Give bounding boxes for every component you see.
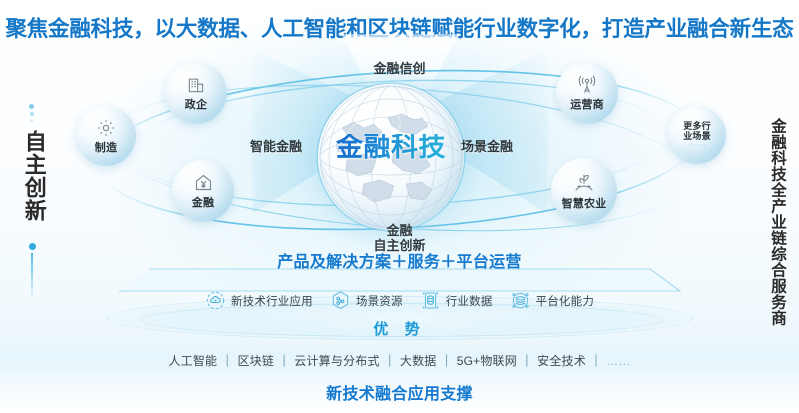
layers-stack-icon: [510, 290, 531, 311]
ellipsis-dots: ······: [687, 142, 707, 149]
industry-bubble-label-line2: 业场景: [683, 131, 711, 141]
industry-bubble-zhengqi[interactable]: 政企: [165, 62, 227, 124]
industry-bubble-label: 制造: [95, 139, 117, 155]
technology-separator: ｜: [380, 354, 400, 368]
support-tagline: 新技术融合应用支撑: [0, 380, 799, 404]
technology-separator: ｜: [217, 354, 237, 368]
core-globe: 金融科技: [318, 84, 464, 230]
left-vertical-caption: 自主创新: [22, 130, 46, 222]
industry-bubble-yunyingshang[interactable]: 运营商: [556, 62, 618, 124]
left-caption-dots-top: [29, 104, 34, 122]
technology-item: ……: [606, 354, 630, 368]
advantage-item-scenario-resources[interactable]: 场景资源: [330, 290, 403, 311]
industry-bubble-zhihuinongye[interactable]: 智慧农业: [551, 158, 617, 224]
industry-bubble-label-line1: 更多行: [683, 121, 711, 131]
globe-label: 金融科技: [318, 134, 464, 161]
technology-item: 云计算与分布式: [294, 354, 379, 368]
industry-bubble-label: 政企: [185, 96, 207, 112]
gear-icon: [96, 118, 116, 138]
advantage-label: 新技术行业应用: [231, 293, 313, 309]
advantage-item-industry-data[interactable]: 行业数据: [420, 290, 493, 311]
core-label-top: 金融信创: [0, 58, 799, 77]
building-icon: [186, 75, 206, 95]
smart-farm-icon: [573, 172, 595, 194]
technology-item: 大数据: [400, 354, 437, 368]
core-label-right: 场景金融: [461, 136, 513, 155]
advantage-label: 场景资源: [356, 293, 403, 309]
infographic-canvas: 聚焦金融科技，以大数据、人工智能和区块链赋能行业数字化，打造产业融合新生态 自主…: [0, 0, 799, 413]
industry-bubble-more-scenarios[interactable]: 更多行 业场景 ······: [668, 106, 726, 164]
antenna-signal-icon: [577, 75, 597, 95]
technology-separator: ｜: [437, 354, 457, 368]
industry-bubble-jinrong[interactable]: 金融: [172, 160, 234, 222]
technology-separator: ｜: [517, 354, 537, 368]
advantage-item-platform-capability[interactable]: 平台化能力: [510, 290, 595, 311]
technology-list: 人工智能｜区块链｜云计算与分布式｜大数据｜5G+物联网｜安全技术｜……: [0, 352, 799, 369]
advantage-item-new-tech[interactable]: 新技术行业应用: [205, 290, 313, 311]
cloud-circle-icon: [205, 290, 226, 311]
industry-bubble-zhizao[interactable]: 制造: [76, 106, 136, 166]
platform-trapezoid: [118, 268, 681, 292]
bank-yuan-icon: [193, 172, 214, 193]
industry-bubble-label: 智慧农业: [562, 195, 607, 211]
technology-item: 区块链: [237, 354, 274, 368]
core-label-left: 智能金融: [250, 136, 302, 155]
industry-bubble-label: 运营商: [570, 96, 604, 112]
technology-separator: ｜: [586, 354, 606, 368]
technology-item: 5G+物联网: [457, 354, 517, 368]
technology-item: 安全技术: [537, 354, 586, 368]
hexagon-network-icon: [330, 290, 351, 311]
advantage-tagline: 优 势: [0, 318, 799, 339]
data-shield-icon: [420, 290, 441, 311]
advantage-label: 平台化能力: [536, 293, 595, 309]
advantages-row: 新技术行业应用 场景资源: [0, 290, 799, 311]
advantage-label: 行业数据: [446, 293, 493, 309]
technology-separator: ｜: [274, 354, 294, 368]
technology-item: 人工智能: [168, 354, 217, 368]
industry-bubble-label: 金融: [192, 194, 214, 210]
